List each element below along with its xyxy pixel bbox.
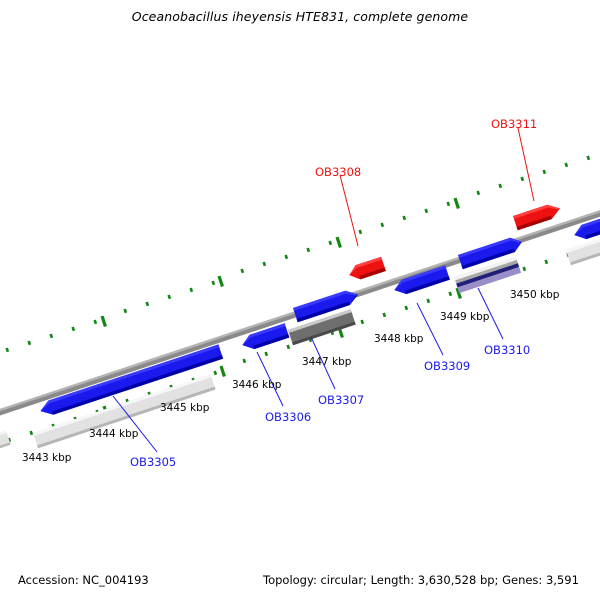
gene-arrow-OB3310[interactable] bbox=[454, 235, 524, 294]
gene-arrow-OB3307[interactable] bbox=[288, 287, 360, 345]
gene-label-OB3310[interactable]: OB3310 bbox=[484, 343, 530, 357]
gene-label-OB3307[interactable]: OB3307 bbox=[318, 393, 364, 407]
axis-tick-label: 3447 kbp bbox=[302, 356, 351, 368]
gene-shadow-clipped-left bbox=[0, 430, 11, 457]
gene-label-OB3306[interactable]: OB3306 bbox=[265, 410, 311, 424]
gene-label-OB3305[interactable]: OB3305 bbox=[130, 455, 176, 469]
leader-OB3308 bbox=[340, 175, 358, 246]
gene-label-OB3308[interactable]: OB3308 bbox=[315, 165, 361, 179]
axis-tick-label: 3444 kbp bbox=[89, 428, 138, 440]
genome-stats-text: Topology: circular; Length: 3,630,528 bp… bbox=[263, 573, 579, 587]
gene-arrow-OB3308[interactable] bbox=[347, 257, 386, 283]
axis-tick-label: 3450 kbp bbox=[510, 289, 559, 301]
axis-tick-label: 3449 kbp bbox=[440, 311, 489, 323]
axis-tick-label: 3448 kbp bbox=[374, 333, 423, 345]
axis-tick-label: 3446 kbp bbox=[232, 379, 281, 391]
gene-label-OB3309[interactable]: OB3309 bbox=[424, 359, 470, 373]
genome-map-viewport: Oceanobacillus iheyensis HTE831, complet… bbox=[0, 0, 600, 600]
leader-OB3311 bbox=[518, 128, 534, 201]
axis-tick-label: 3445 kbp bbox=[160, 402, 209, 414]
axis-tick-label: 3443 kbp bbox=[22, 452, 71, 464]
accession-text: Accession: NC_004193 bbox=[18, 573, 149, 587]
gene-label-OB3311[interactable]: OB3311 bbox=[491, 117, 537, 131]
